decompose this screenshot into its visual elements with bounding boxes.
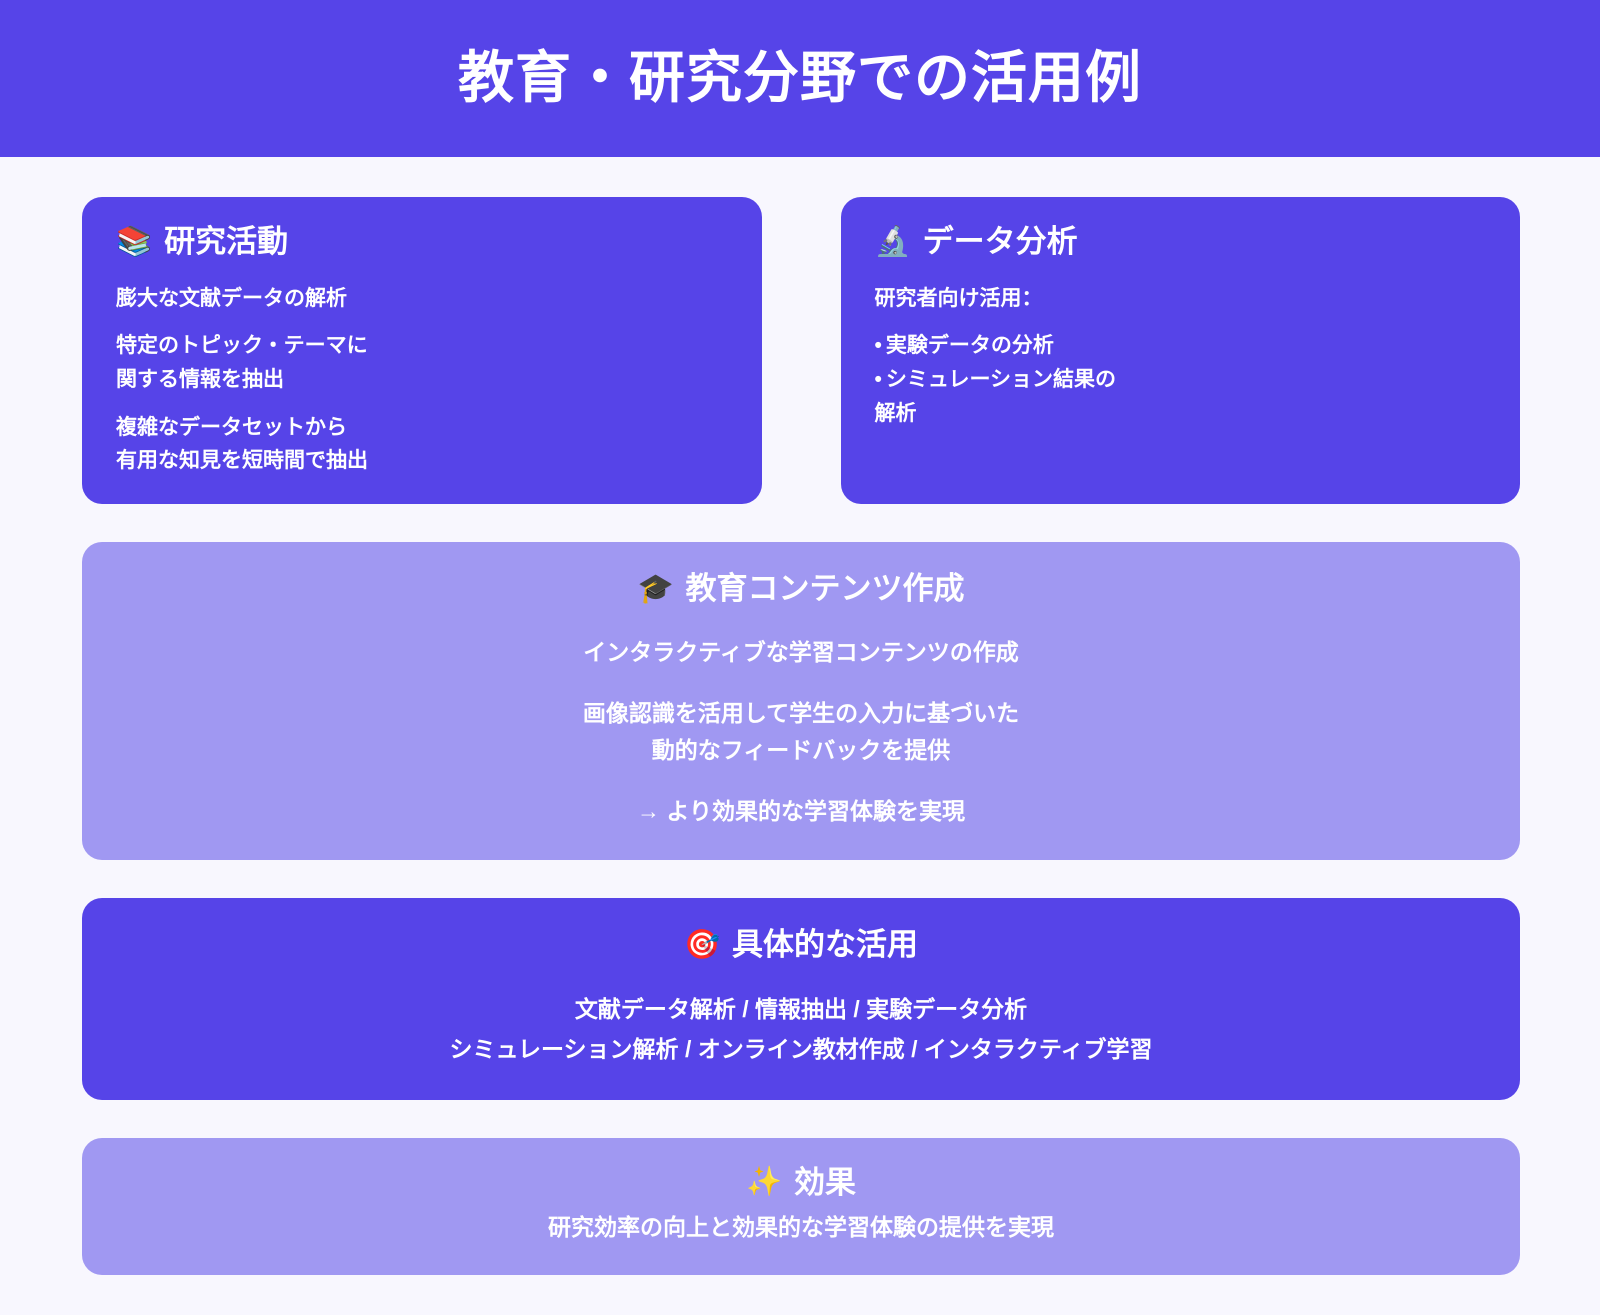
- education-line: 動的なフィードバックを提供: [583, 732, 1019, 769]
- analysis-bullet-item: •実験データの分析: [875, 329, 1487, 363]
- research-line: 有用な知見を短時間で抽出: [116, 444, 728, 478]
- education-line: → より効果的な学習体験を実現: [637, 793, 965, 830]
- card-research-activity[interactable]: 📚 研究活動 膨大な文献データの解析 特定のトピック・テーマに 関する情報を抽出…: [82, 197, 762, 504]
- card-effect[interactable]: ✨ 効果 研究効率の向上と効果的な学習体験の提供を実現: [82, 1138, 1520, 1275]
- effect-paragraph: 研究効率の向上と効果的な学習体験の提供を実現: [548, 1210, 1054, 1245]
- books-icon: 📚: [116, 228, 152, 257]
- target-icon: 🎯: [684, 931, 720, 960]
- analysis-intro-line: 研究者向け活用：: [875, 282, 1487, 316]
- card-usecases-heading: 🎯 具体的な活用: [116, 926, 1486, 965]
- research-line: 複雑なデータセットから: [116, 411, 728, 445]
- card-research-title: 研究活動: [164, 223, 288, 262]
- card-education-body: インタラクティブな学習コンテンツの作成 画像認識を活用して学生の入力に基づいた …: [116, 634, 1486, 829]
- card-usecases-title: 具体的な活用: [732, 926, 918, 965]
- research-paragraph-1: 膨大な文献データの解析: [116, 282, 728, 316]
- card-effect-title: 効果: [794, 1164, 856, 1203]
- card-concrete-usecases[interactable]: 🎯 具体的な活用 文献データ解析 / 情報抽出 / 実験データ分析 シミュレーシ…: [82, 898, 1520, 1100]
- card-analysis-title: データ分析: [923, 223, 1078, 262]
- analysis-bullet-text: 実験データの分析: [886, 334, 1054, 357]
- analysis-intro: 研究者向け活用：: [875, 282, 1487, 316]
- bullet-marker-icon: •: [875, 334, 882, 357]
- research-paragraph-3: 複雑なデータセットから 有用な知見を短時間で抽出: [116, 411, 728, 478]
- card-analysis-heading: 🔬 データ分析: [875, 223, 1487, 262]
- card-data-analysis[interactable]: 🔬 データ分析 研究者向け活用： •実験データの分析 •シミュレーション結果の …: [841, 197, 1521, 504]
- card-effect-heading: ✨ 効果: [116, 1164, 1486, 1203]
- graduation-cap-icon: 🎓: [637, 575, 673, 604]
- card-research-heading: 📚 研究活動: [116, 223, 728, 262]
- card-effect-body: 研究効率の向上と効果的な学習体験の提供を実現: [116, 1210, 1486, 1245]
- card-education-content[interactable]: 🎓 教育コンテンツ作成 インタラクティブな学習コンテンツの作成 画像認識を活用し…: [82, 542, 1520, 860]
- card-analysis-body: 研究者向け活用： •実験データの分析 •シミュレーション結果の 解析: [875, 282, 1487, 432]
- analysis-bullet-item: •シミュレーション結果の: [875, 363, 1487, 397]
- card-research-body: 膨大な文献データの解析 特定のトピック・テーマに 関する情報を抽出 複雑なデータ…: [116, 282, 728, 478]
- usecases-line: シミュレーション解析 / オンライン教材作成 / インタラクティブ学習: [449, 1030, 1152, 1070]
- content-area: 📚 研究活動 膨大な文献データの解析 特定のトピック・テーマに 関する情報を抽出…: [0, 157, 1600, 1315]
- research-line: 特定のトピック・テーマに: [116, 329, 728, 363]
- analysis-bullet-text: シミュレーション結果の: [886, 368, 1116, 391]
- analysis-bullet-overflow: 解析: [875, 397, 1487, 431]
- education-line: インタラクティブな学習コンテンツの作成: [583, 634, 1019, 671]
- microscope-icon: 🔬: [875, 228, 911, 257]
- education-line: 画像認識を活用して学生の入力に基づいた: [583, 695, 1019, 732]
- research-line: 膨大な文献データの解析: [116, 282, 728, 316]
- slide-root: 教育・研究分野での活用例 📚 研究活動 膨大な文献データの解析 特定のトピック・…: [0, 0, 1600, 1200]
- research-line: 関する情報を抽出: [116, 363, 728, 397]
- header-banner: 教育・研究分野での活用例: [0, 0, 1600, 157]
- top-card-row: 📚 研究活動 膨大な文献データの解析 特定のトピック・テーマに 関する情報を抽出…: [82, 197, 1520, 504]
- card-education-heading: 🎓 教育コンテンツ作成: [116, 570, 1486, 609]
- education-paragraph-3: → より効果的な学習体験を実現: [637, 793, 965, 830]
- card-education-title: 教育コンテンツ作成: [686, 570, 965, 609]
- sparkles-icon: ✨: [746, 1168, 782, 1197]
- usecases-line: 文献データ解析 / 情報抽出 / 実験データ分析: [449, 990, 1152, 1030]
- research-paragraph-2: 特定のトピック・テーマに 関する情報を抽出: [116, 329, 728, 396]
- education-paragraph-1: インタラクティブな学習コンテンツの作成: [583, 634, 1019, 671]
- education-paragraph-2: 画像認識を活用して学生の入力に基づいた 動的なフィードバックを提供: [583, 695, 1019, 769]
- effect-line: 研究効率の向上と効果的な学習体験の提供を実現: [548, 1210, 1054, 1245]
- card-usecases-body: 文献データ解析 / 情報抽出 / 実験データ分析 シミュレーション解析 / オン…: [116, 990, 1486, 1069]
- page-title: 教育・研究分野での活用例: [458, 46, 1142, 110]
- bullet-marker-icon: •: [875, 368, 882, 391]
- usecases-paragraph: 文献データ解析 / 情報抽出 / 実験データ分析 シミュレーション解析 / オン…: [449, 990, 1152, 1069]
